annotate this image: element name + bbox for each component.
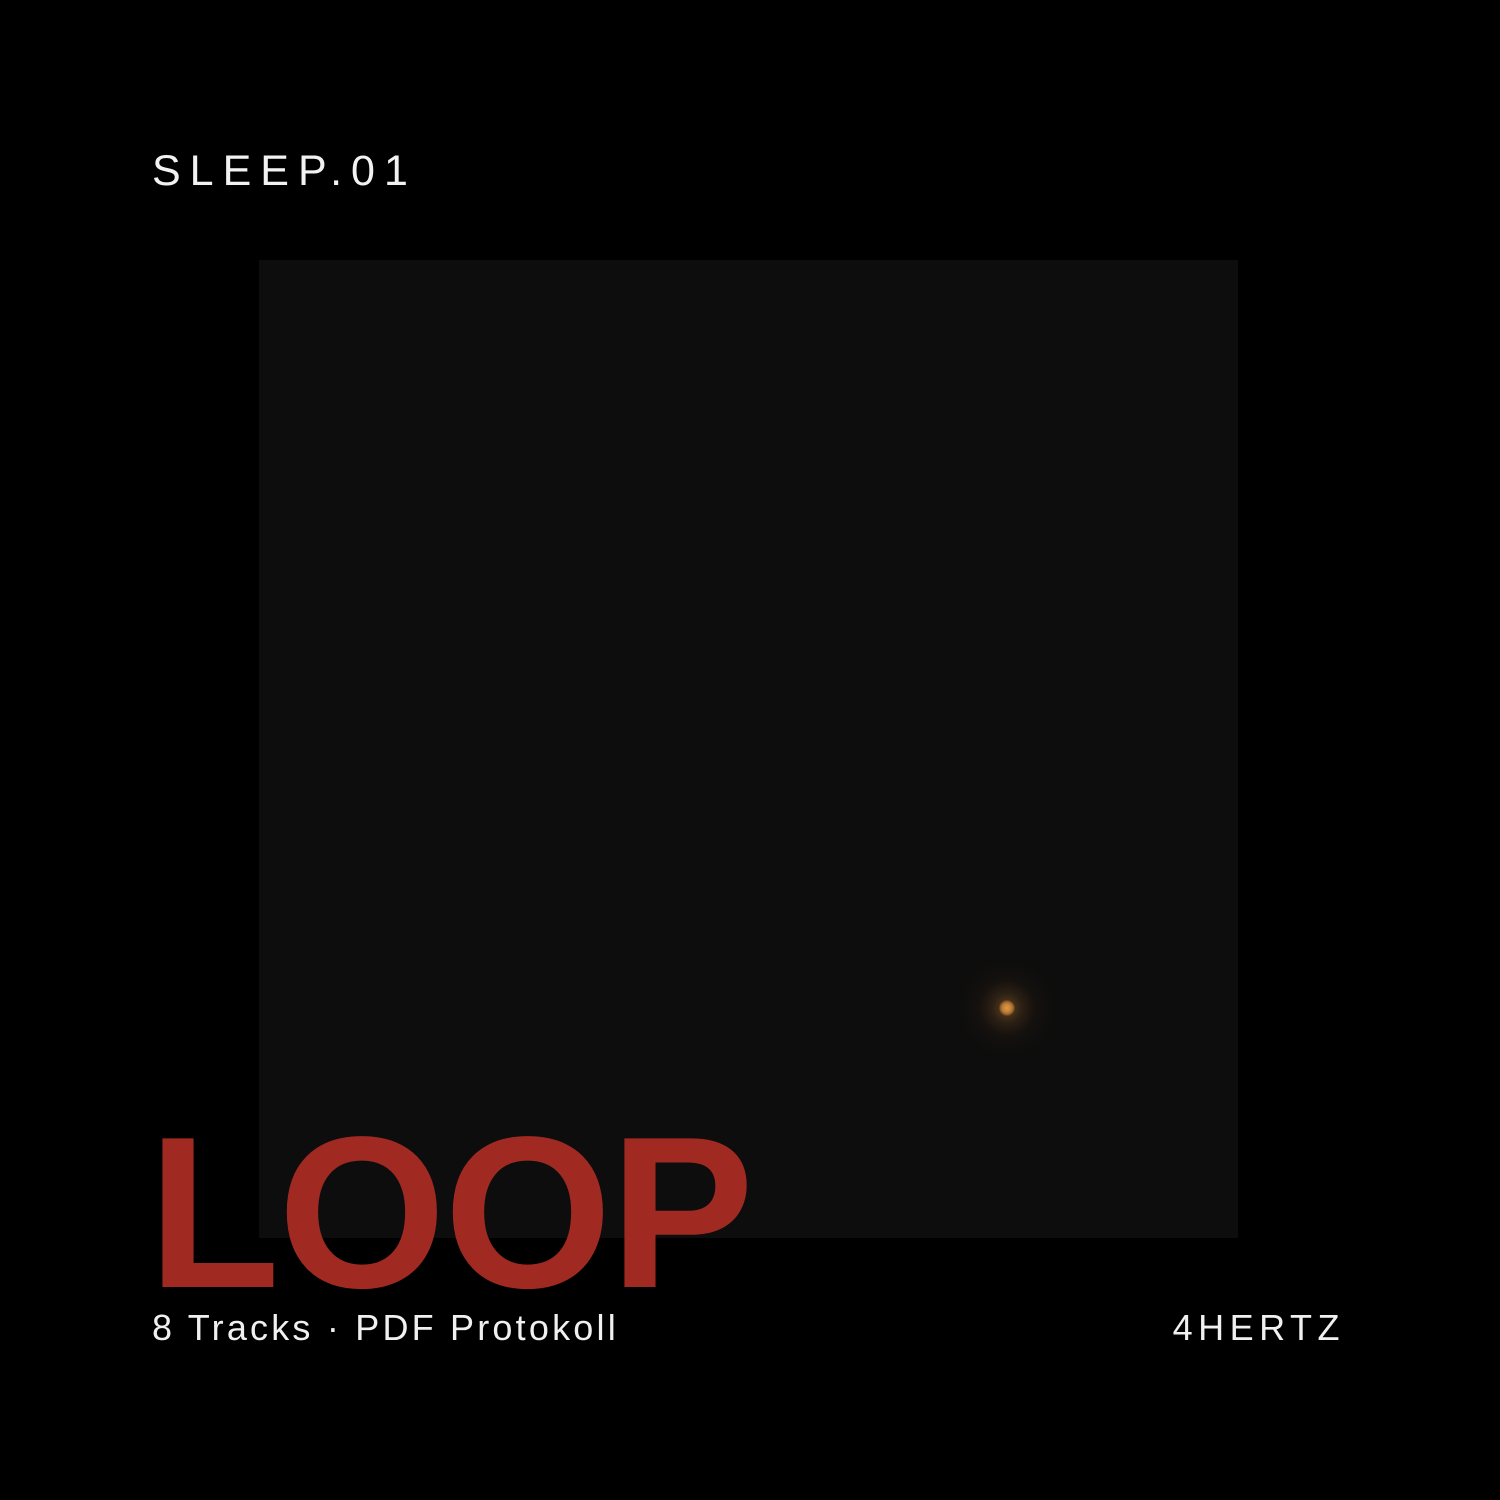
album-cover: SLEEP.01 LOOP 8 Tracks · PDF Protokoll 4… — [0, 0, 1500, 1500]
format-note: 8 Tracks · PDF Protokoll — [152, 1310, 619, 1346]
series-code: SLEEP.01 — [152, 150, 417, 193]
label-name: 4HERTZ — [1173, 1310, 1345, 1346]
metadata-row: 8 Tracks · PDF Protokoll 4HERTZ — [152, 1310, 1345, 1346]
focus-dot-core — [999, 1000, 1015, 1016]
wordmark-title: LOOP — [148, 1104, 752, 1320]
